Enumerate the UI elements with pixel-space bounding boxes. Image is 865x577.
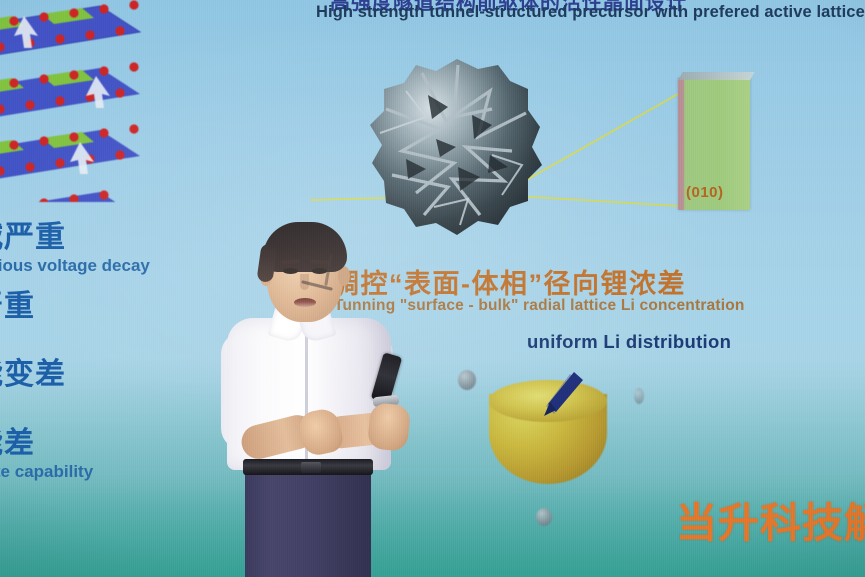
uniform-li-label: uniform Li distribution <box>527 331 731 353</box>
presenter-eye-left <box>283 268 298 274</box>
presenter-belt-buckle <box>301 462 321 473</box>
presenter-figure <box>197 214 427 577</box>
small-gray-sphere-left <box>458 370 476 390</box>
presenter-hand-right <box>367 402 412 452</box>
presentation-screenshot: (010) 高强度隧道结构前驱体的活性晶面设计 High strength tu… <box>0 0 865 577</box>
crystal-lattice-graphic <box>0 0 180 202</box>
inset-top-edge <box>678 72 755 80</box>
presenter-eye-right <box>312 268 327 274</box>
presenter-trousers <box>245 467 371 577</box>
slide-title-en: High strength tunnel-structured precurso… <box>316 3 865 22</box>
brand-watermark: 当升科技解 <box>676 489 865 549</box>
inset-hkl-label: (010) <box>686 184 724 201</box>
small-gray-sphere-right <box>634 388 644 404</box>
facet-inset-graphic: (010) <box>678 78 750 210</box>
small-gray-sphere-bottom <box>536 508 552 526</box>
li-direction-arrow-icon <box>540 372 584 418</box>
presenter-hair <box>263 222 347 272</box>
presenter-mouth <box>294 298 316 307</box>
